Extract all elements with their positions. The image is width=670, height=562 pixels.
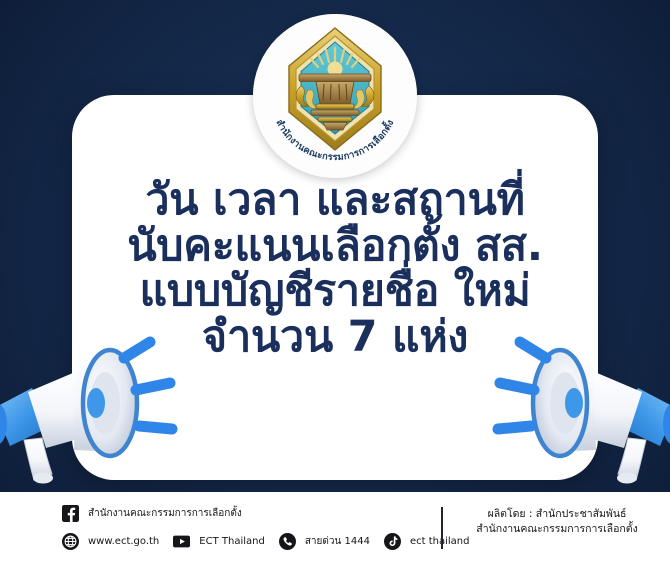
footer-youtube-label: ECT Thailand <box>199 536 265 547</box>
headline-line-1: วัน เวลา และสถานที่ <box>72 178 598 224</box>
headline-line-3: แบบบัญชีรายชื่อ ใหม่ <box>72 269 598 315</box>
phone-icon <box>279 533 296 550</box>
footer-row-2: www.ect.go.th ECT Thailand <box>62 528 484 554</box>
footer-youtube-item[interactable]: ECT Thailand <box>173 533 265 550</box>
headline-line-4: จำนวน 7 แห่ง <box>72 315 598 361</box>
globe-icon <box>62 533 79 550</box>
footer-facebook-label: สำนักงานคณะกรรมการการเลือกตั้ง <box>88 506 242 521</box>
poster-canvas: สำนักงานคณะกรรมการการเลือกตั้ง <box>0 0 670 562</box>
footer-contact-list: สำนักงานคณะกรรมการการเลือกตั้ง <box>62 500 484 554</box>
footer-divider <box>441 507 443 549</box>
footer-bar: สำนักงานคณะกรรมการการเลือกตั้ง <box>0 492 670 562</box>
footer-phone-item[interactable]: สายด่วน 1444 <box>279 533 370 550</box>
headline-block: วัน เวลา และสถานที่ นับคะแนนเลือกตั้ง สส… <box>72 178 598 360</box>
footer-credit-line-1: ผลิตโดย : สำนักประชาสัมพันธ์ <box>452 507 662 522</box>
footer-credit-line-2: สำนักงานคณะกรรมการการเลือกตั้ง <box>452 522 662 537</box>
footer-website-label: www.ect.go.th <box>88 536 159 547</box>
footer-website-item[interactable]: www.ect.go.th <box>62 533 159 550</box>
tiktok-icon <box>384 533 401 550</box>
facebook-icon <box>62 505 79 522</box>
footer-credit: ผลิตโดย : สำนักประชาสัมพันธ์ สำนักงานคณะ… <box>452 507 662 537</box>
headline-line-2: นับคะแนนเลือกตั้ง สส. <box>72 224 598 270</box>
ect-emblem-icon: สำนักงานคณะกรรมการการเลือกตั้ง <box>253 14 417 178</box>
footer-row-1: สำนักงานคณะกรรมการการเลือกตั้ง <box>62 500 484 526</box>
footer-facebook-item[interactable]: สำนักงานคณะกรรมการการเลือกตั้ง <box>62 505 242 522</box>
footer-phone-label: สายด่วน 1444 <box>305 534 370 549</box>
ect-emblem: สำนักงานคณะกรรมการการเลือกตั้ง <box>253 14 417 178</box>
youtube-icon <box>173 533 190 550</box>
